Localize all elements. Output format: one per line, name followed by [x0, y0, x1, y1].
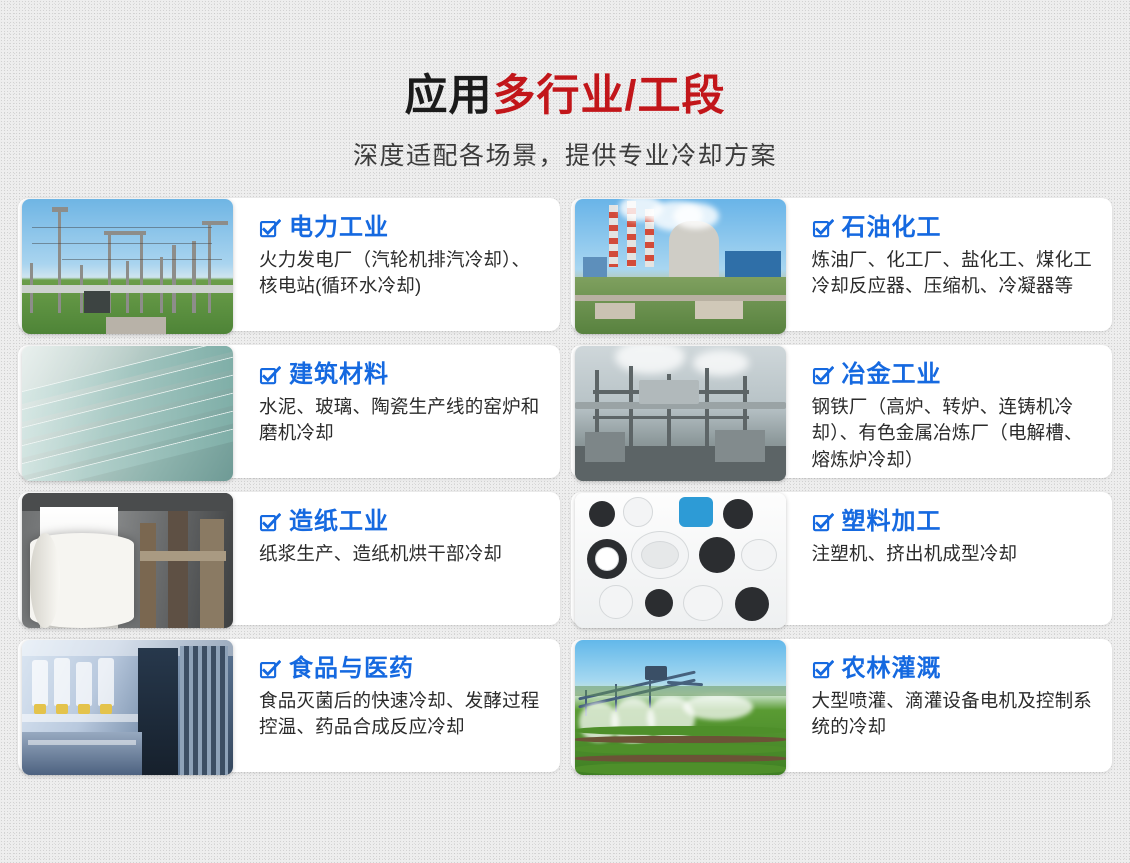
- card-title: 造纸工业: [289, 510, 389, 534]
- card-description: 纸浆生产、造纸机烘干部冷却: [259, 541, 546, 567]
- industry-card-petrochemical[interactable]: 石油化工 炼油厂、化工厂、盐化工、煤化工冷却反应器、压缩机、冷凝器等: [571, 198, 1113, 331]
- page-subtitle: 深度适配各场景，提供专业冷却方案: [0, 136, 1130, 172]
- checkbox-checked-icon: [259, 659, 281, 681]
- card-description: 炼油厂、化工厂、盐化工、煤化工冷却反应器、压缩机、冷凝器等: [812, 247, 1099, 300]
- steel-plant-photo: [575, 346, 786, 481]
- card-body: 石油化工 炼油厂、化工厂、盐化工、煤化工冷却反应器、压缩机、冷凝器等: [786, 198, 1113, 331]
- industry-card-papermaking[interactable]: 造纸工业 纸浆生产、造纸机烘干部冷却: [18, 492, 560, 625]
- page-title-prefix: 应用: [405, 72, 493, 120]
- card-title-row: 食品与医药: [259, 657, 546, 681]
- irrigation-sprinkler-photo: [575, 640, 786, 775]
- card-body: 电力工业 火力发电厂（汽轮机排汽冷却）、核电站(循环水冷却): [233, 198, 560, 331]
- card-description: 钢铁厂（高炉、转炉、连铸机冷却）、有色金属冶炼厂（电解槽、熔炼炉冷却）: [812, 394, 1099, 473]
- card-title: 农林灌溉: [842, 657, 942, 681]
- industry-card-plastics[interactable]: 塑料加工 注塑机、挤出机成型冷却: [571, 492, 1113, 625]
- card-title-row: 塑料加工: [812, 510, 1099, 534]
- petrochemical-plant-photo: [575, 199, 786, 334]
- page-header: 应用多行业/工段 深度适配各场景，提供专业冷却方案: [0, 0, 1130, 172]
- industry-card-irrigation[interactable]: 农林灌溉 大型喷灌、滴灌设备电机及控制系统的冷却: [571, 639, 1113, 772]
- card-title-row: 石油化工: [812, 216, 1099, 240]
- application-industries-page: 应用多行业/工段 深度适配各场景，提供专业冷却方案: [0, 0, 1130, 863]
- power-substation-photo: [22, 199, 233, 334]
- page-title-highlight: 多行业/工段: [493, 72, 726, 120]
- card-title: 石油化工: [842, 216, 942, 240]
- checkbox-checked-icon: [812, 512, 834, 534]
- food-pharma-line-photo: [22, 640, 233, 775]
- checkbox-checked-icon: [259, 512, 281, 534]
- card-title: 建筑材料: [289, 363, 389, 387]
- card-body: 农林灌溉 大型喷灌、滴灌设备电机及控制系统的冷却: [786, 639, 1113, 772]
- checkbox-checked-icon: [812, 365, 834, 387]
- page-title: 应用多行业/工段: [0, 72, 1130, 120]
- checkbox-checked-icon: [259, 218, 281, 240]
- card-title-row: 造纸工业: [259, 510, 546, 534]
- industry-card-power[interactable]: 电力工业 火力发电厂（汽轮机排汽冷却）、核电站(循环水冷却): [18, 198, 560, 331]
- card-description: 注塑机、挤出机成型冷却: [812, 541, 1099, 567]
- card-description: 火力发电厂（汽轮机排汽冷却）、核电站(循环水冷却): [259, 247, 546, 300]
- plastic-parts-photo: [575, 493, 786, 628]
- card-body: 塑料加工 注塑机、挤出机成型冷却: [786, 492, 1113, 625]
- card-body: 冶金工业 钢铁厂（高炉、转炉、连铸机冷却）、有色金属冶炼厂（电解槽、熔炼炉冷却）: [786, 345, 1113, 478]
- industry-cards-grid: 电力工业 火力发电厂（汽轮机排汽冷却）、核电站(循环水冷却): [0, 198, 1130, 772]
- card-title: 电力工业: [289, 216, 389, 240]
- card-title: 冶金工业: [842, 363, 942, 387]
- card-title-row: 农林灌溉: [812, 657, 1099, 681]
- paper-mill-photo: [22, 493, 233, 628]
- card-title: 食品与医药: [289, 657, 414, 681]
- checkbox-checked-icon: [259, 365, 281, 387]
- card-body: 造纸工业 纸浆生产、造纸机烘干部冷却: [233, 492, 560, 625]
- glass-panes-photo: [22, 346, 233, 481]
- card-title-row: 电力工业: [259, 216, 546, 240]
- card-description: 食品灭菌后的快速冷却、发酵过程控温、药品合成反应冷却: [259, 688, 546, 741]
- card-title: 塑料加工: [842, 510, 942, 534]
- card-description: 水泥、玻璃、陶瓷生产线的窑炉和磨机冷却: [259, 394, 546, 447]
- card-title-row: 建筑材料: [259, 363, 546, 387]
- card-title-row: 冶金工业: [812, 363, 1099, 387]
- card-body: 建筑材料 水泥、玻璃、陶瓷生产线的窑炉和磨机冷却: [233, 345, 560, 478]
- card-description: 大型喷灌、滴灌设备电机及控制系统的冷却: [812, 688, 1099, 741]
- checkbox-checked-icon: [812, 218, 834, 240]
- industry-card-metallurgy[interactable]: 冶金工业 钢铁厂（高炉、转炉、连铸机冷却）、有色金属冶炼厂（电解槽、熔炼炉冷却）: [571, 345, 1113, 478]
- industry-card-food-pharma[interactable]: 食品与医药 食品灭菌后的快速冷却、发酵过程控温、药品合成反应冷却: [18, 639, 560, 772]
- industry-card-building-materials[interactable]: 建筑材料 水泥、玻璃、陶瓷生产线的窑炉和磨机冷却: [18, 345, 560, 478]
- checkbox-checked-icon: [812, 659, 834, 681]
- card-body: 食品与医药 食品灭菌后的快速冷却、发酵过程控温、药品合成反应冷却: [233, 639, 560, 772]
